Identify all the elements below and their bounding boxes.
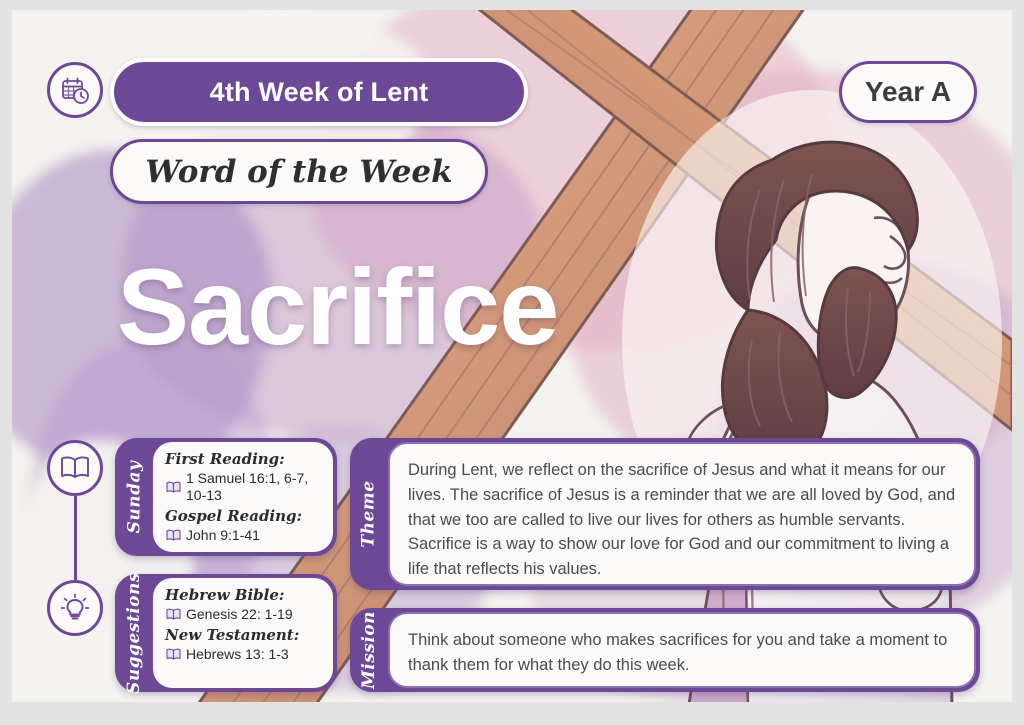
open-book-icon [47,440,103,496]
poster-canvas: 4th Week of Lent Word of the Week Year A… [12,10,1012,702]
mission-text: Think about someone who makes sacrifices… [408,628,956,678]
suggestions-sheet: Hebrew Bible: Genesis 22: 1-19 New Testa… [153,578,333,688]
week-badge[interactable]: 4th Week of Lent [110,58,528,126]
mission-sheet: Think about someone who makes sacrifices… [388,612,976,688]
mission-card: Mission Think about someone who makes sa… [350,608,980,692]
new-testament-reference: Hebrews 13: 1-3 [186,646,289,663]
new-testament-row: Hebrews 13: 1-3 [165,646,323,663]
word-of-the-week-label: Word of the Week [145,154,452,190]
calendar-clock-icon [47,62,103,118]
open-book-icon [165,648,182,661]
hebrew-bible-reference: Genesis 22: 1-19 [186,606,293,623]
poster-stage: 4th Week of Lent Word of the Week Year A… [0,0,1024,725]
mission-tab: Mission [350,608,388,692]
lightbulb-icon [47,580,103,636]
first-reading-label: First Reading: [165,451,323,468]
gospel-reading-label: Gospel Reading: [165,508,323,525]
mission-tab-label: Mission [359,611,379,689]
hebrew-bible-label: Hebrew Bible: [165,587,323,604]
open-book-icon [165,529,182,542]
sunday-readings-card: Sunday First Reading: 1 Samuel 16:1, 6-7… [115,438,337,556]
theme-text: During Lent, we reflect on the sacrifice… [408,458,956,582]
gospel-reading-row: John 9:1-41 [165,527,323,544]
theme-tab: Theme [350,438,388,590]
calendar-clock-glyph [59,74,91,106]
hebrew-bible-row: Genesis 22: 1-19 [165,606,323,623]
week-label: 4th Week of Lent [210,77,429,108]
theme-card: Theme During Lent, we reflect on the sac… [350,438,980,590]
year-label: Year A [865,76,951,108]
year-badge[interactable]: Year A [839,61,977,123]
suggestions-tab: Suggestions [115,574,153,692]
sunday-tab-label: Sunday [124,461,144,534]
new-testament-label: New Testament: [165,627,323,644]
theme-tab-label: Theme [359,480,379,547]
feature-word: Sacrifice [117,253,558,361]
open-book-glyph [59,455,91,481]
rail-connector [74,496,77,580]
theme-sheet: During Lent, we reflect on the sacrifice… [388,442,976,586]
gospel-reading-reference: John 9:1-41 [186,527,260,544]
sunday-sheet: First Reading: 1 Samuel 16:1, 6-7, 10-13… [153,442,333,552]
sunday-tab: Sunday [115,438,153,556]
word-of-the-week-badge[interactable]: Word of the Week [110,139,488,204]
first-reading-row: 1 Samuel 16:1, 6-7, 10-13 [165,470,323,504]
first-reading-reference: 1 Samuel 16:1, 6-7, 10-13 [186,470,323,504]
open-book-icon [165,481,182,494]
lightbulb-glyph [60,593,90,623]
suggestions-tab-label: Suggestions [124,572,144,694]
open-book-icon [165,608,182,621]
suggestions-card: Suggestions Hebrew Bible: Genesis 22: 1-… [115,574,337,692]
